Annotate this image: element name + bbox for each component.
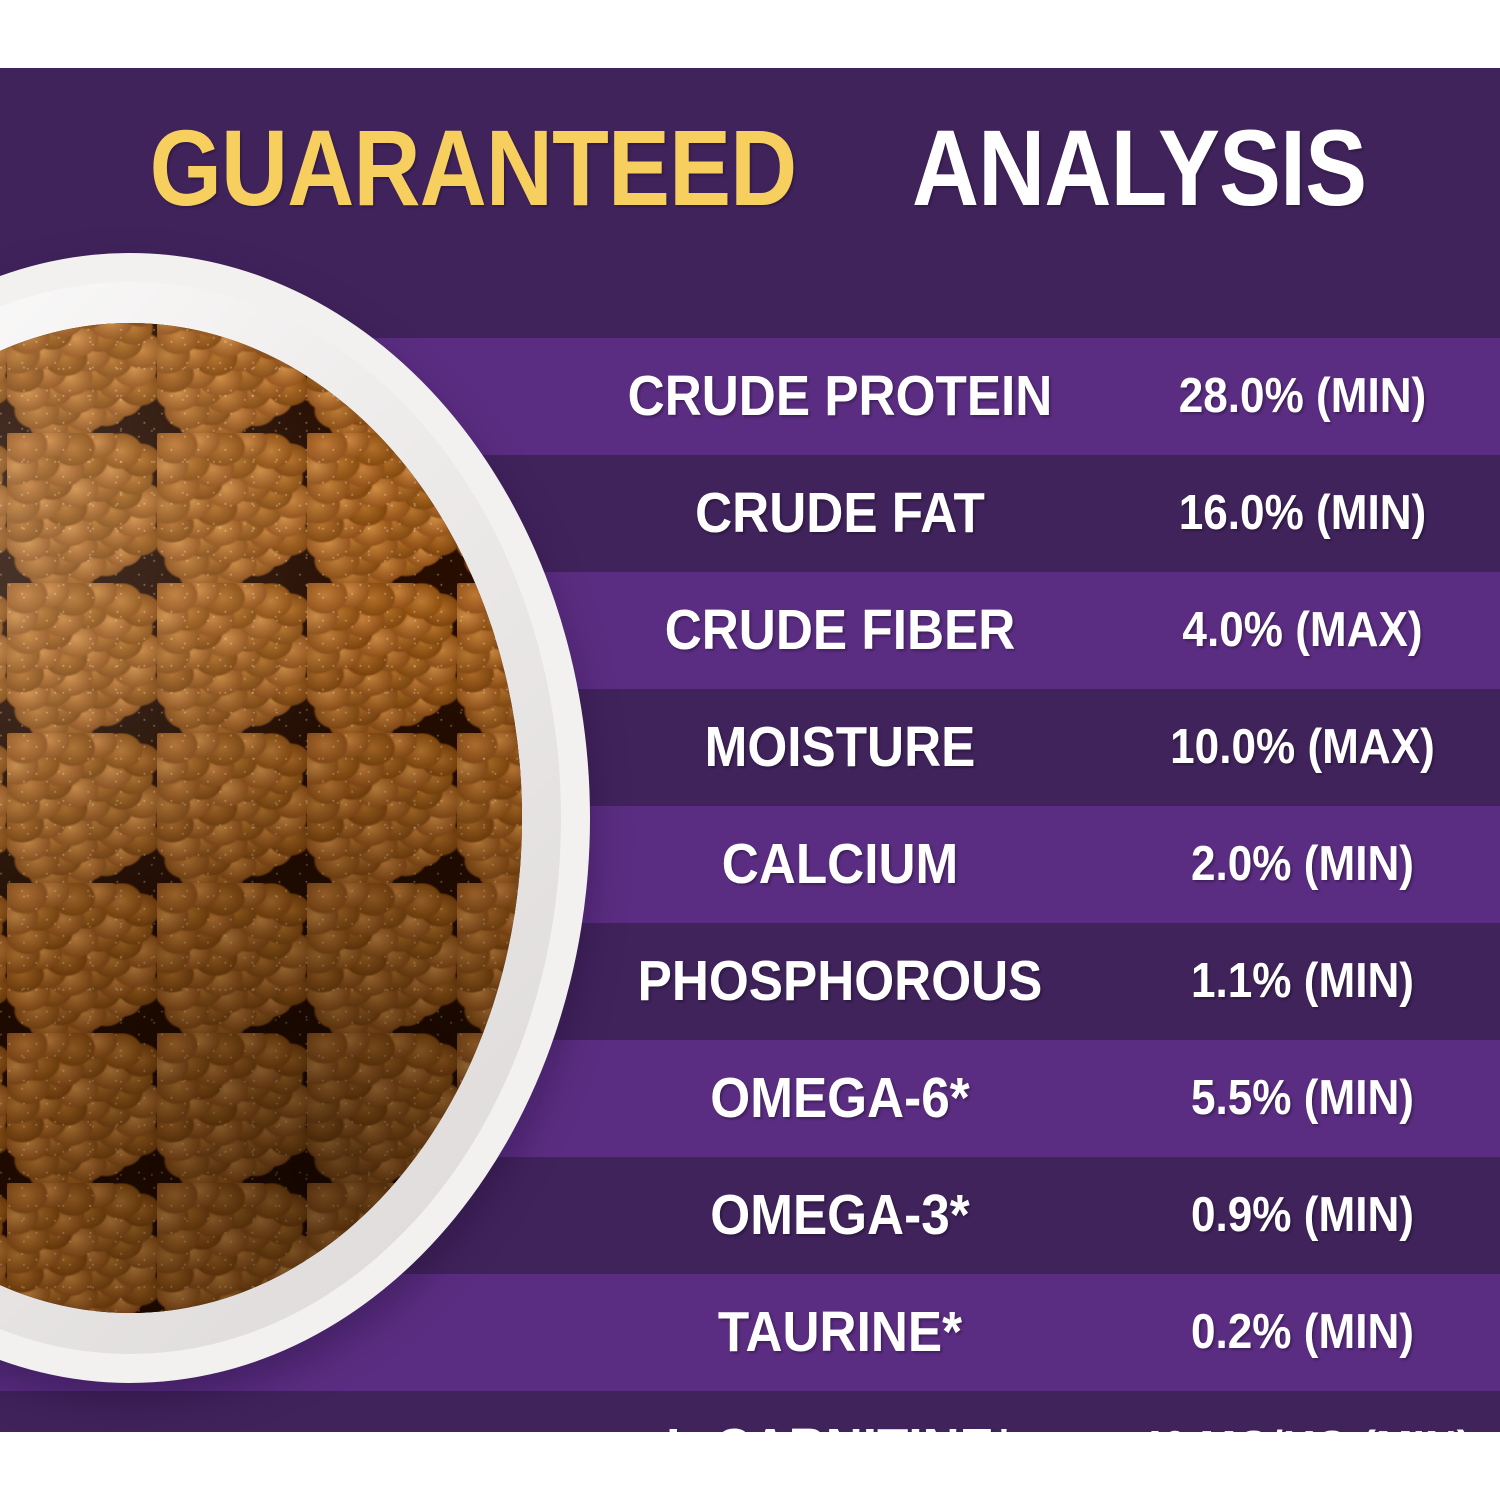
- guaranteed-analysis-panel: GUARANTEED ANALYSIS CRUDE PROTEIN 28.0% …: [0, 0, 1500, 1500]
- kibble-texture: [0, 323, 522, 1313]
- nutrient-label: PHOSPHOROUS: [588, 953, 1092, 1010]
- nutrient-value: 10.0% (MAX): [1138, 723, 1467, 772]
- nutrient-label: MOISTURE: [588, 719, 1092, 776]
- table-row: L-CARNITINE* 40 MG/KG (MIN): [0, 1391, 1500, 1432]
- purple-background-panel: GUARANTEED ANALYSIS CRUDE PROTEIN 28.0% …: [0, 68, 1500, 1432]
- nutrient-label: TAURINE*: [588, 1304, 1092, 1361]
- nutrient-label: CRUDE PROTEIN: [588, 368, 1092, 425]
- nutrient-value: 1.1% (MIN): [1138, 957, 1467, 1006]
- title-word-analysis: ANALYSIS: [912, 114, 1366, 222]
- nutrient-value: 0.2% (MIN): [1138, 1308, 1467, 1357]
- nutrient-value: 16.0% (MIN): [1138, 489, 1467, 538]
- kibble-speckle: [0, 323, 522, 1313]
- title-word-guaranteed: GUARANTEED: [150, 114, 797, 222]
- nutrient-value: 0.9% (MIN): [1138, 1191, 1467, 1240]
- nutrient-label: OMEGA-6*: [588, 1070, 1092, 1127]
- nutrient-label: CALCIUM: [588, 836, 1092, 893]
- nutrient-label: L-CARNITINE*: [588, 1421, 1092, 1432]
- bowl-interior: [0, 323, 522, 1313]
- nutrient-label: CRUDE FIBER: [588, 602, 1092, 659]
- nutrient-value: 2.0% (MIN): [1138, 840, 1467, 889]
- nutrient-value: 40 MG/KG (MIN): [1138, 1425, 1467, 1432]
- page-title: GUARANTEED ANALYSIS: [0, 68, 1500, 268]
- kibble-bowl-photo: [0, 253, 590, 1383]
- nutrient-value: 28.0% (MIN): [1138, 372, 1467, 421]
- nutrient-value: 5.5% (MIN): [1138, 1074, 1467, 1123]
- nutrient-label: OMEGA-3*: [588, 1187, 1092, 1244]
- nutrient-value: 4.0% (MAX): [1138, 606, 1467, 655]
- nutrient-label: CRUDE FAT: [588, 485, 1092, 542]
